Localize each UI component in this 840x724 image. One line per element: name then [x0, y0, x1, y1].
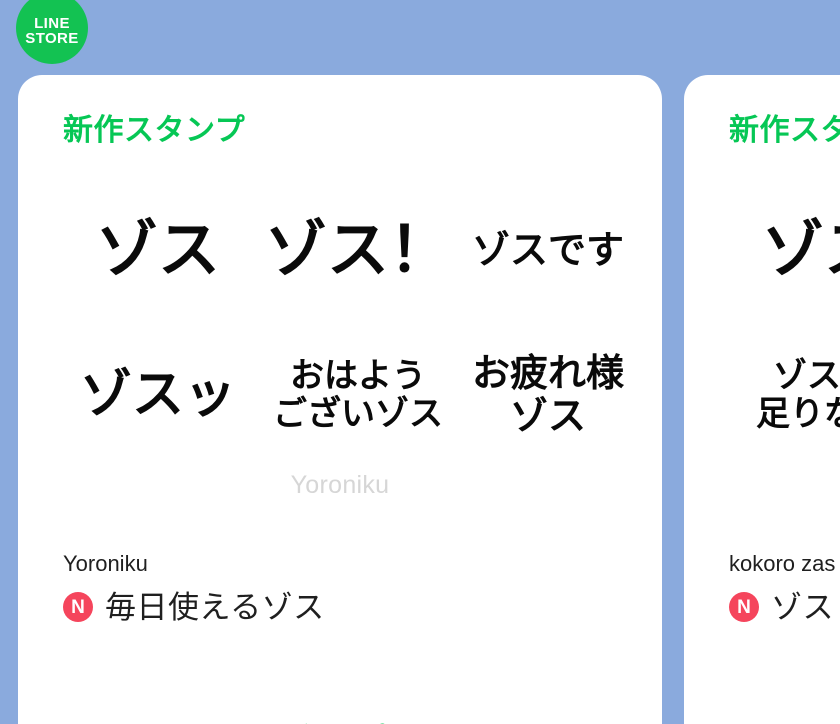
view-sticker-link[interactable]: このスタンプを見る [58, 714, 622, 724]
sticker-preview-item: ゾス [58, 215, 258, 284]
card-heading-new-stamps: 新作スタンプ [63, 113, 622, 149]
sticker-card[interactable]: 新作スタンプ ゾス ゾス！ ゾスです ゾスッ おはよう ございゾス お疲れ様 ゾ… [18, 75, 662, 724]
sticker-preview-row: ゾスッ おはよう ございゾス お疲れ様 ゾス [58, 325, 622, 465]
view-sticker-link[interactable]: このスタンプを見る [724, 714, 840, 724]
sticker-preview-area: ゾス ゾス！ ゾスです ゾスッ おはよう ございゾス お疲れ様 ゾス Yoron… [58, 175, 622, 520]
card-meta: Yoroniku N 毎日使えるゾス [58, 550, 622, 626]
sticker-preview-row: ゾスが 足りない [724, 325, 840, 465]
sticker-preview-item: ゾス！ [258, 215, 458, 284]
sticker-preview-row: ゾス [724, 175, 840, 325]
sticker-title: 毎日使えるゾス [105, 589, 325, 626]
sticker-title-row[interactable]: N ゾス [729, 589, 840, 626]
sticker-title-row[interactable]: N 毎日使えるゾス [63, 589, 622, 626]
card-heading-new-stamps: 新作スタ [729, 113, 840, 149]
sticker-preview-area: ゾス ゾスが 足りない [724, 175, 840, 520]
sticker-carousel[interactable]: 新作スタンプ ゾス ゾス！ ゾスです ゾスッ おはよう ございゾス お疲れ様 ゾ… [18, 75, 840, 724]
sticker-preview-item: ゾスッ [58, 366, 258, 424]
sticker-preview-row: ゾス ゾス！ ゾスです [58, 175, 622, 325]
author-name[interactable]: kokoro zas [729, 550, 840, 579]
preview-watermark: Yoroniku [58, 471, 622, 500]
card-meta: kokoro zas N ゾス [724, 550, 840, 626]
author-name[interactable]: Yoroniku [63, 550, 622, 579]
sticker-card[interactable]: 新作スタ ゾス ゾスが 足りない kokoro zas N ゾス このスタンプを… [684, 75, 840, 724]
sticker-preview-item: ゾスが 足りない [724, 357, 840, 433]
new-badge-icon: N [63, 592, 93, 622]
line-store-logo[interactable]: LINE STORE [16, 0, 88, 64]
sticker-preview-item: おはよう ございゾス [258, 357, 458, 433]
logo-text-store: STORE [25, 31, 78, 46]
sticker-title: ゾス [771, 589, 834, 626]
sticker-preview-item: ゾスです [458, 229, 638, 272]
sticker-preview-item: ゾス [724, 215, 840, 284]
sticker-preview-item: お疲れ様 ゾス [458, 352, 638, 437]
logo-text-line: LINE [34, 16, 70, 31]
new-badge-icon: N [729, 592, 759, 622]
